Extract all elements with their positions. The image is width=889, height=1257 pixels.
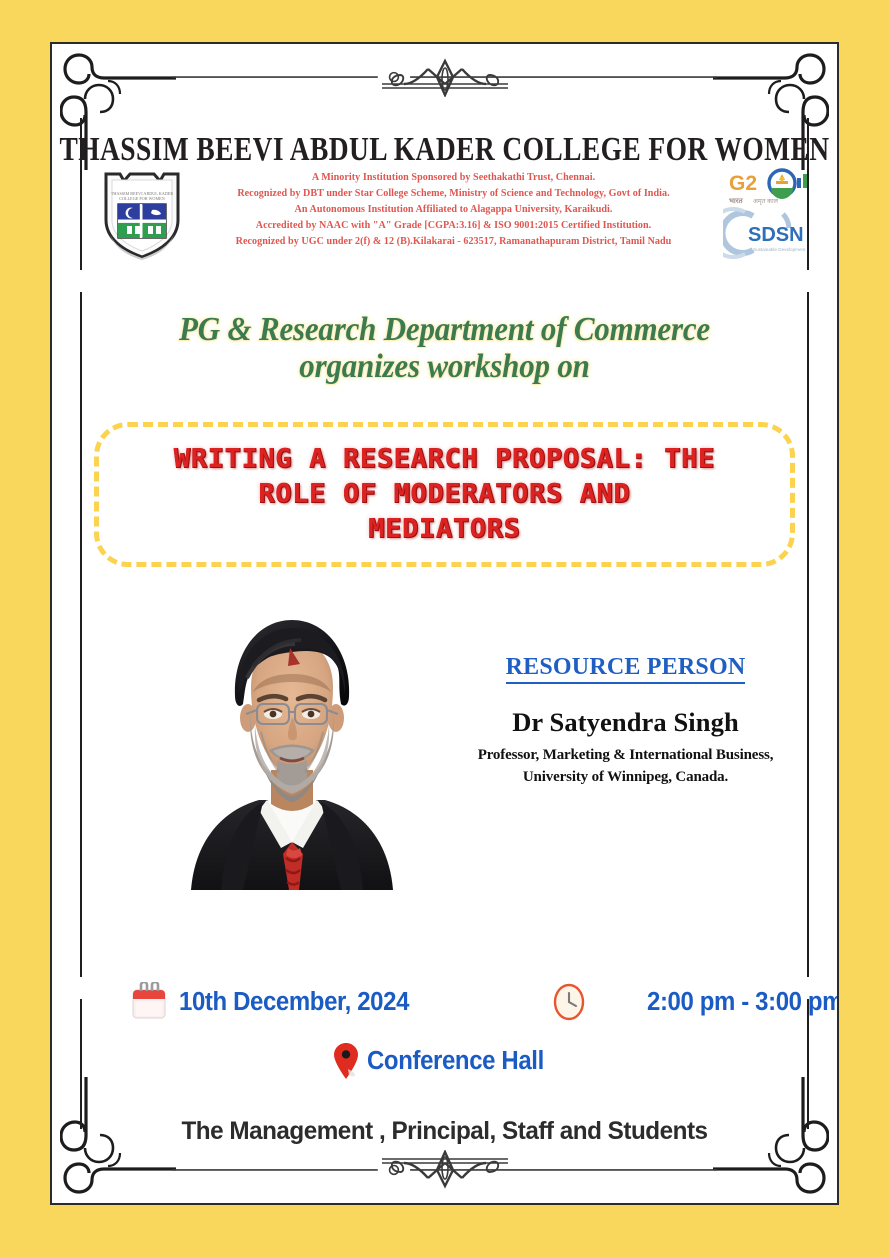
affiliation-text-block: A Minority Institution Sponsored by Seet… [192, 170, 715, 250]
date-time-row: 10th December, 2024 2:00 pm - 3:00 pm [52, 980, 837, 1038]
event-venue-value: Conference Hall [367, 1047, 544, 1076]
workshop-title-box: WRITING A RESEARCH PROPOSAL: THE ROLE OF… [94, 422, 795, 567]
clock-icon [550, 982, 588, 1022]
svg-text:G2: G2 [729, 172, 757, 195]
center-divider-ornament-icon [382, 1150, 508, 1190]
workshop-title-line: WRITING A RESEARCH PROPOSAL: THE [174, 442, 715, 477]
event-logistics: 10th December, 2024 2:00 pm - 3:00 pm [52, 980, 837, 1038]
event-venue: Conference Hall [52, 1042, 837, 1080]
svg-text:Sustainable Development: Sustainable Development [753, 247, 806, 252]
g20-india-logo: G2 भारत अमृत काल [727, 166, 817, 208]
resource-person-name: Dr Satyendra Singh [452, 708, 799, 737]
location-pin-icon [333, 1042, 359, 1080]
sdsn-logo: SDSN Sustainable Development [723, 206, 815, 260]
resource-person-affiliation-line: University of Winnipeg, Canada. [452, 767, 799, 789]
svg-text:भारत: भारत [729, 198, 744, 205]
page-title: THASSIM BEEVI ABDUL KADER COLLEGE FOR WO… [52, 132, 837, 167]
workshop-title-line: ROLE OF MODERATORS AND [174, 477, 715, 512]
affiliation-line: A Minority Institution Sponsored by Seet… [192, 170, 715, 186]
affiliation-line: Recognized by UGC under 2(f) & 12 (B).Ki… [192, 234, 715, 250]
horizontal-rule-with-circle-icon [172, 70, 717, 84]
svg-text:COLLEGE FOR WOMEN: COLLEGE FOR WOMEN [119, 196, 165, 201]
poster-page: THASSIM BEEVI ABDUL KADER COLLEGE FOR WO… [50, 42, 839, 1205]
resource-person-label: RESOURCE PERSON [506, 654, 746, 684]
organizer-heading: PG & Research Department of Commerce org… [52, 310, 837, 384]
event-date: 10th December, 2024 [130, 982, 424, 1022]
svg-text:अमृत काल: अमृत काल [753, 198, 779, 205]
center-divider-ornament-icon [382, 57, 508, 97]
organizer-line-2: organizes workshop on [52, 345, 837, 386]
partner-logos: G2 भारत अमृत काल [719, 166, 819, 262]
poster-header: THASSIM BEEVI ABDUL KADER COLLEGE FOR WO… [52, 132, 837, 161]
poster: THASSIM BEEVI ABDUL KADER COLLEGE FOR WO… [0, 0, 889, 1257]
event-time: 2:00 pm - 3:00 pm [550, 982, 839, 1022]
resource-person-affiliation: Professor, Marketing & International Bus… [452, 745, 799, 789]
horizontal-rule-with-circle-icon [172, 1163, 717, 1177]
invitation-text: The Management , Principal, Staff and St… [64, 1117, 825, 1146]
calendar-icon [130, 982, 168, 1022]
frame-vertical-rule [80, 292, 82, 977]
resource-person-photo [147, 592, 437, 890]
resource-person-affiliation-line: Professor, Marketing & International Bus… [452, 745, 799, 767]
svg-text:SDSN: SDSN [748, 224, 804, 246]
affiliation-line: An Autonomous Institution Affiliated to … [192, 202, 715, 218]
affiliation-line: Accredited by NAAC with "A" Grade [CGPA:… [192, 218, 715, 234]
resource-person-details: RESOURCE PERSON Dr Satyendra Singh Profe… [452, 654, 799, 789]
event-date-value: 10th December, 2024 [179, 988, 409, 1017]
event-time-value: 2:00 pm - 3:00 pm [647, 988, 839, 1017]
workshop-title-line: MEDIATORS [174, 512, 715, 547]
affiliation-line: Recognized by DBT under Star College Sch… [192, 186, 715, 202]
college-crest-shield-icon: THASSIM BEEVI ABDUL KADER COLLEGE FOR WO… [100, 168, 184, 260]
organizer-line-1: PG & Research Department of Commerce [52, 308, 837, 349]
workshop-title: WRITING A RESEARCH PROPOSAL: THE ROLE OF… [174, 442, 715, 546]
frame-vertical-rule [807, 292, 809, 977]
header-identity-row: THASSIM BEEVI ABDUL KADER COLLEGE FOR WO… [52, 166, 837, 262]
